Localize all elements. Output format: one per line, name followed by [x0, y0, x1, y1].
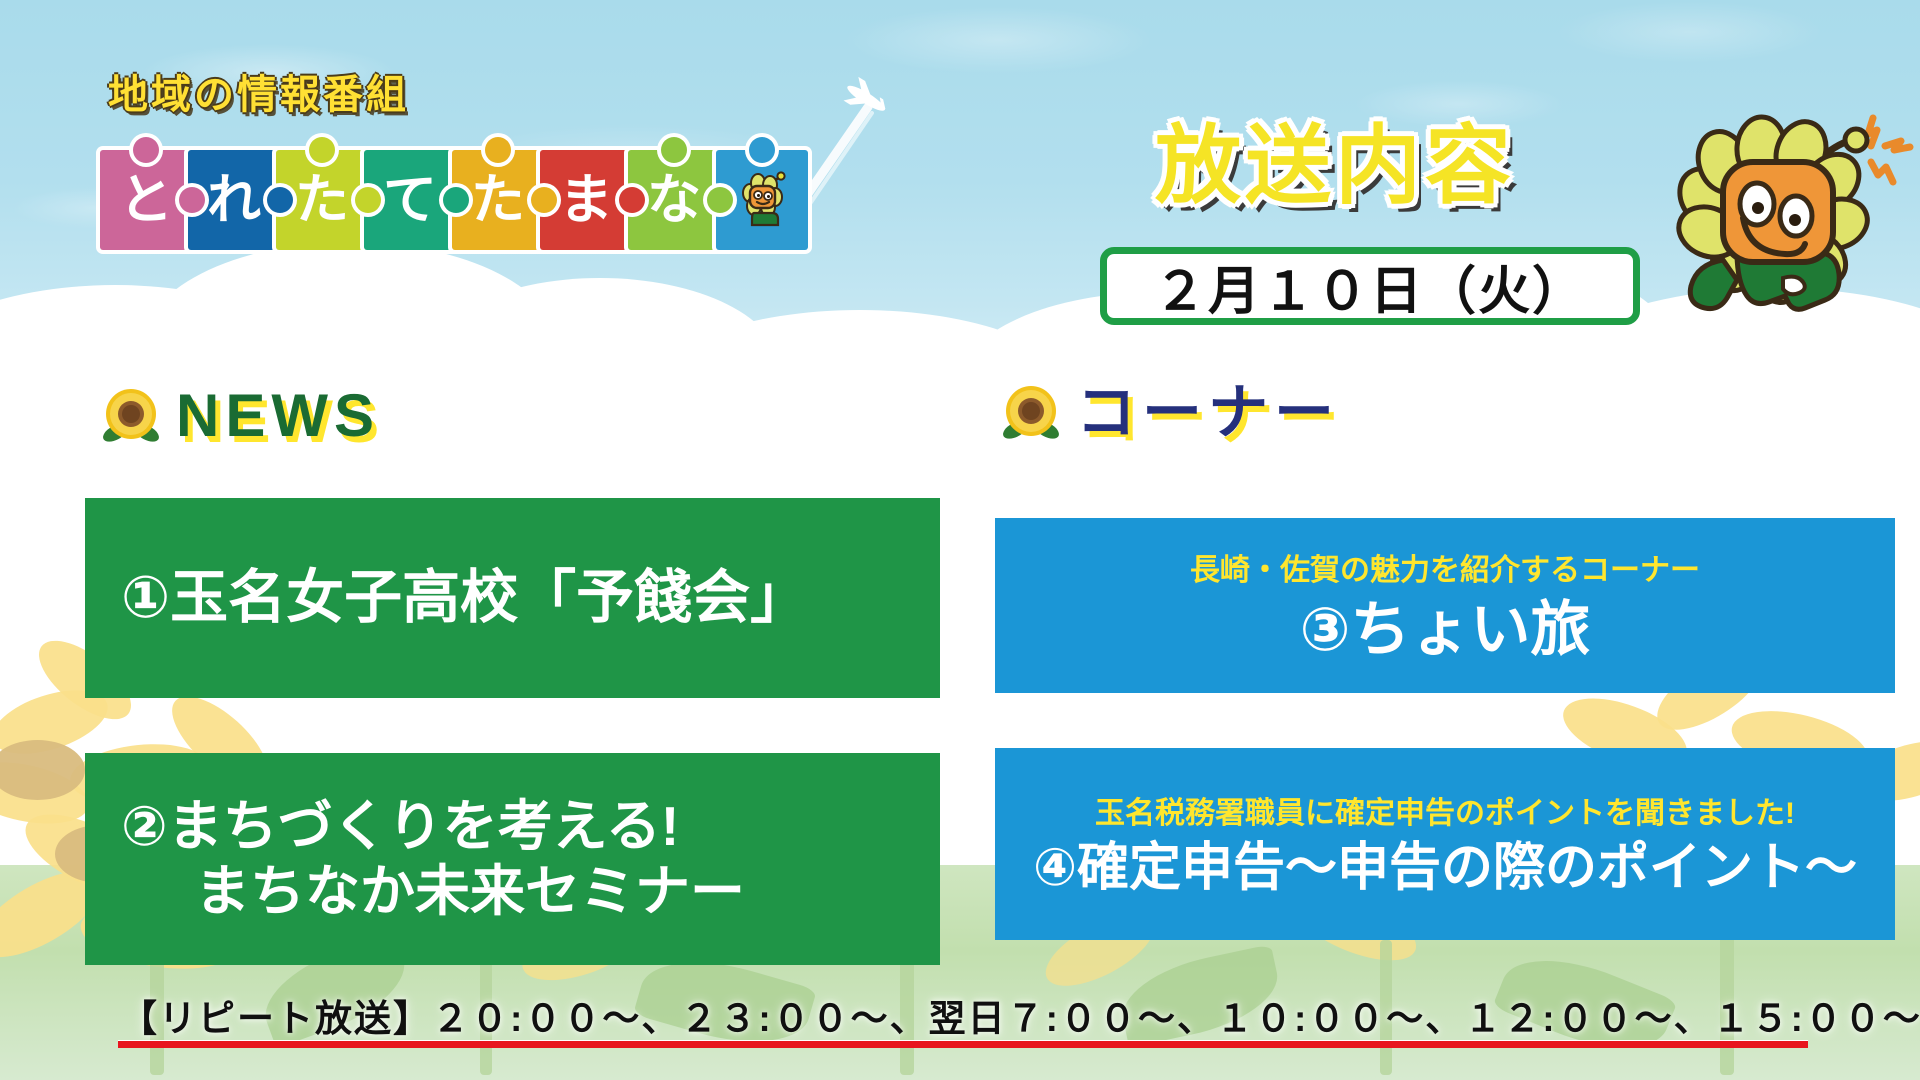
broadcast-content-title: 放送内容 [1155, 95, 1515, 220]
puzzle-letter-2: れ [207, 173, 261, 227]
corner-item-4-title: ④確定申告〜申告の際のポイント〜 [995, 838, 1895, 899]
news-item-1-text: ①玉名女子高校「予餞会」 [85, 564, 940, 632]
sunflower-icon [100, 385, 162, 447]
broadcast-date-chip: ２月１０日（火） [1100, 247, 1640, 325]
corner-section-heading: コーナー [1000, 382, 1340, 444]
corner-title: コーナー [1076, 383, 1340, 443]
corner-item-3-title: ③ちょい旅 [995, 595, 1895, 666]
footer-red-rule [118, 1040, 1808, 1048]
sunflower-mascot-icon [1665, 100, 1920, 335]
program-tagline: 地域の情報番組 [108, 62, 409, 120]
news-item-2-line2: まちなか未来セミナー [85, 859, 940, 924]
puzzle-letter-4: て [383, 173, 437, 227]
corner-item-3-subtitle: 長崎・佐賀の魅力を紹介するコーナー [995, 545, 1895, 589]
sunflower-icon [1000, 382, 1062, 444]
corner-item-4[interactable]: 玉名税務署職員に確定申告のポイントを聞きました! ④確定申告〜申告の際のポイント… [995, 748, 1895, 940]
puzzle-letter-3: た [295, 173, 349, 227]
news-item-2[interactable]: ②まちづくりを考える! まちなか未来セミナー [85, 753, 940, 965]
repeat-broadcast-text: 【リピート放送】２０:００〜、２３:００〜、翌日７:００〜、１０:００〜、１２:… [120, 988, 1920, 1042]
news-item-2-line1: ②まちづくりを考える! [85, 794, 940, 859]
puzzle-letter-1: と [119, 173, 173, 227]
broadcast-schedule-poster: 地域の情報番組 と れ た て た ま な [0, 0, 1920, 1080]
puzzle-letter-7: な [647, 173, 701, 227]
mini-mascot-icon [734, 169, 790, 231]
program-logo-puzzle: と れ た て た ま な [100, 150, 804, 250]
puzzle-letter-5: た [471, 173, 525, 227]
puzzle-letter-6: ま [559, 173, 613, 227]
corner-item-3[interactable]: 長崎・佐賀の魅力を紹介するコーナー ③ちょい旅 [995, 518, 1895, 693]
broadcast-date-text: ２月１０日（火） [1154, 249, 1586, 324]
news-section-heading: NEWS [100, 385, 380, 447]
news-item-1[interactable]: ①玉名女子高校「予餞会」 [85, 498, 940, 698]
news-title: NEWS [176, 386, 380, 446]
puzzle-piece-1: と [100, 150, 192, 250]
corner-item-4-subtitle: 玉名税務署職員に確定申告のポイントを聞きました! [995, 788, 1895, 832]
